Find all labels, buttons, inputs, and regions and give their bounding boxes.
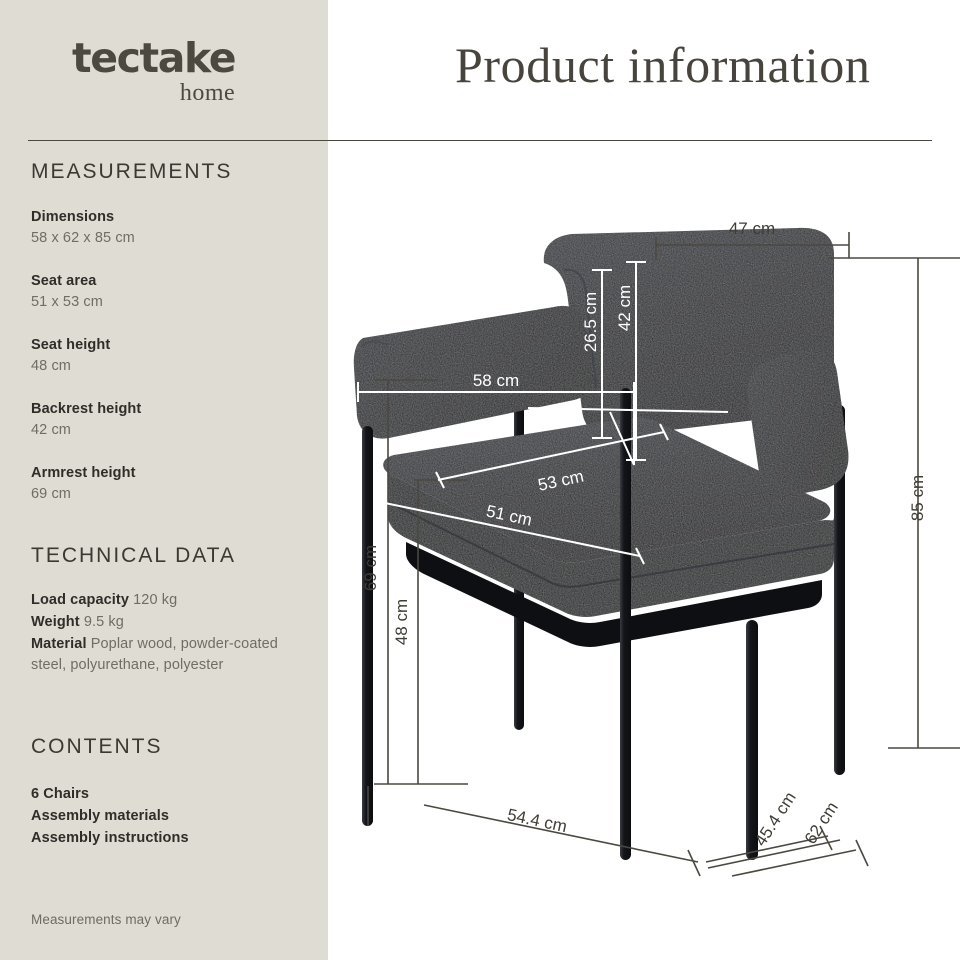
measurement-label: Seat height (31, 335, 110, 356)
technical-data-heading: TECHNICAL DATA (31, 544, 236, 568)
label-footprint-width: 54.4 cm (506, 805, 569, 836)
chair-dimension-diagram: 47 cm 26.5 cm 42 cm 58 cm 53 cm 51 cm 69… (328, 150, 960, 960)
technical-label: Load capacity (31, 592, 129, 608)
page-title: Product information (455, 36, 871, 94)
measurement-label: Armrest height (31, 463, 136, 484)
label-backrest-height: 42 cm (615, 285, 634, 331)
brand-logo: tectake home (72, 38, 235, 105)
chair-leg-mid-right (746, 620, 758, 860)
measurement-label: Backrest height (31, 399, 141, 420)
brand-sub: home (72, 81, 235, 105)
measurement-label: Dimensions (31, 207, 135, 228)
label-backrest-inner: 26.5 cm (581, 292, 600, 352)
contents-heading: CONTENTS (31, 735, 163, 759)
measurement-value: 51 x 53 cm (31, 292, 103, 313)
technical-label: Material (31, 636, 87, 652)
measurement-value: 42 cm (31, 420, 141, 441)
measurement-seat-height: Seat height 48 cm (31, 335, 110, 377)
contents-item: Assembly materials (31, 806, 189, 828)
label-seat-height: 48 cm (392, 599, 411, 645)
product-information-sheet: tectake home MEASUREMENTS Dimensions 58 … (0, 0, 960, 960)
measurement-seat-area: Seat area 51 x 53 cm (31, 271, 103, 313)
measurement-value: 58 x 62 x 85 cm (31, 228, 135, 249)
contents-item: 6 Chairs (31, 784, 189, 806)
brand-name: tectake (72, 38, 235, 79)
measurement-value: 48 cm (31, 356, 110, 377)
technical-load-capacity: Load capacity 120 kg (31, 590, 295, 612)
technical-weight: Weight 9.5 kg (31, 612, 295, 634)
label-footprint-depth: 45.4 cm (751, 788, 800, 849)
label-armrest-height: 69 cm (361, 545, 380, 591)
measurements-heading: MEASUREMENTS (31, 160, 232, 184)
chair-leg-front-left (362, 426, 373, 826)
label-overall-width: 58 cm (473, 371, 519, 390)
measurement-armrest-height: Armrest height 69 cm (31, 463, 136, 505)
technical-label: Weight (31, 614, 80, 630)
measurement-backrest-height: Backrest height 42 cm (31, 399, 141, 441)
technical-data-list: Load capacity 120 kg Weight 9.5 kg Mater… (31, 590, 295, 677)
technical-value: 120 kg (133, 592, 177, 608)
label-total-height: 85 cm (908, 475, 927, 521)
measurement-disclaimer: Measurements may vary (31, 912, 181, 927)
technical-material: Material Poplar wood, powder-coated stee… (31, 634, 295, 678)
chair-leg-front-right (620, 388, 631, 860)
label-top-width: 47 cm (729, 219, 775, 238)
sidebar: tectake home MEASUREMENTS Dimensions 58 … (0, 0, 328, 960)
header-divider (28, 140, 932, 141)
measurement-dimensions: Dimensions 58 x 62 x 85 cm (31, 207, 135, 249)
measurement-label: Seat area (31, 271, 103, 292)
contents-list: 6 Chairs Assembly materials Assembly ins… (31, 784, 189, 849)
measurement-value: 69 cm (31, 484, 136, 505)
technical-value: 9.5 kg (84, 614, 124, 630)
contents-item: Assembly instructions (31, 828, 189, 850)
